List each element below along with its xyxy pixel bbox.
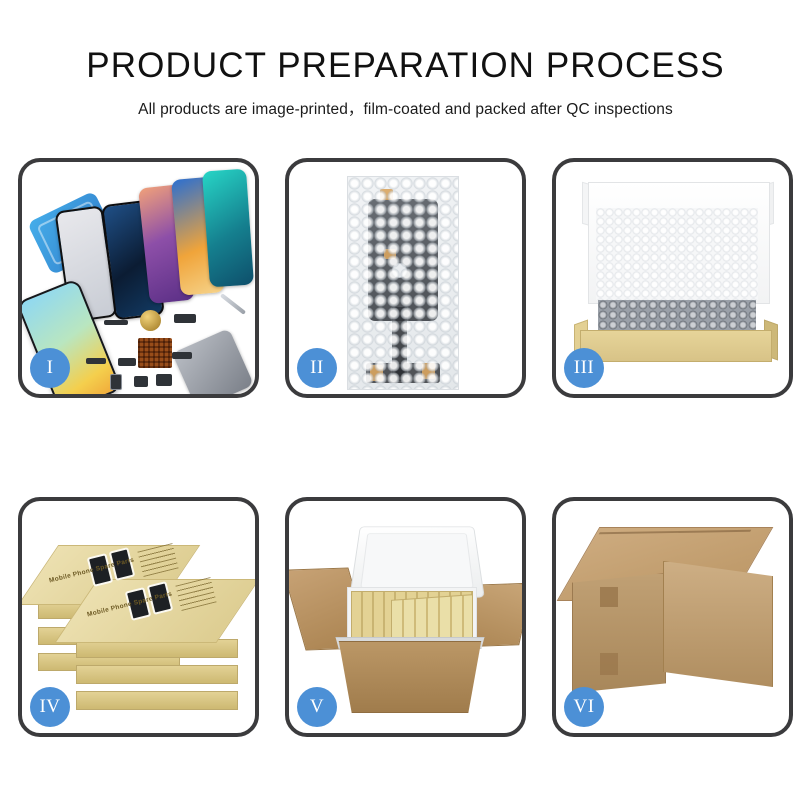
step-panel-1: I	[18, 158, 259, 398]
header: PRODUCT PREPARATION PROCESS All products…	[0, 0, 811, 119]
box-edge-icon	[76, 691, 238, 710]
phone-screen-teal-icon	[202, 169, 254, 288]
bubble-texture-icon	[348, 177, 458, 389]
step-badge-5: V	[297, 687, 337, 727]
carton-front-panel-icon	[329, 641, 491, 713]
part-connector-icon	[118, 358, 136, 366]
carton-tape-icon	[600, 653, 618, 675]
carton-left-face-icon	[572, 573, 666, 693]
carton-tape-icon	[600, 587, 618, 607]
step-panel-5: V	[285, 497, 526, 737]
box-edge-icon	[76, 665, 238, 684]
gold-box-tray-icon	[580, 330, 772, 362]
step-badge-4: IV	[30, 687, 70, 727]
phone-back-cover-icon	[172, 328, 254, 394]
tweezers-icon	[220, 293, 246, 315]
step-badge-1: I	[30, 348, 70, 388]
part-strip-icon	[104, 320, 128, 325]
gold-box-stack-icon: Mobile Phone Spare Parts Mobile Phone Sp…	[34, 523, 248, 721]
bubble-wrap-bag-icon	[347, 176, 459, 390]
step-panel-4: Mobile Phone Spare Parts Mobile Phone Sp…	[18, 497, 259, 737]
step-badge-6: VI	[564, 687, 604, 727]
step-panel-3: III	[552, 158, 793, 398]
step-panel-6: VI	[552, 497, 793, 737]
part-sim-tray-icon	[110, 374, 122, 390]
foam-sheet-icon	[596, 208, 758, 300]
carton-right-face-icon	[663, 561, 773, 687]
part-camera-icon	[156, 374, 172, 386]
page-title: PRODUCT PREPARATION PROCESS	[0, 0, 811, 86]
part-ribbon-icon	[172, 352, 192, 359]
product-preparation-infographic: PRODUCT PREPARATION PROCESS All products…	[0, 0, 811, 811]
part-chip-icon	[134, 376, 148, 387]
copper-chip-icon	[138, 338, 172, 368]
step-panel-2: II	[285, 158, 526, 398]
part-bracket-icon	[86, 358, 106, 364]
bubble-wrapped-contents-icon	[598, 300, 756, 332]
page-subtitle: All products are image-printed，film-coat…	[0, 86, 811, 119]
process-steps-grid: I II	[18, 158, 793, 758]
part-flex-cable-icon	[174, 314, 196, 323]
speaker-module-icon	[140, 310, 161, 331]
step-badge-2: II	[297, 348, 337, 388]
step-badge-3: III	[564, 348, 604, 388]
